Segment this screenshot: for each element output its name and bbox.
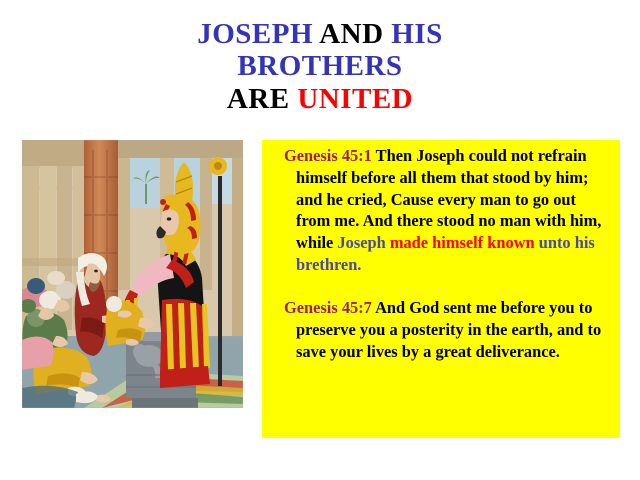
scripture-reference-2: Genesis 45:7 — [284, 298, 372, 317]
title-word-his: HIS — [391, 18, 442, 50]
title-line-3: ARE UNITED — [0, 83, 640, 115]
passage-1-run-2: Joseph — [337, 233, 389, 252]
scripture-passage-2: Genesis 45:7 And God sent me before you … — [296, 297, 612, 362]
scripture-passage-1: Genesis 45:1 Then Joseph could not refra… — [296, 145, 612, 276]
scripture-reference-1: Genesis 45:1 — [284, 146, 372, 165]
slide: JOSEPH AND HIS BROTHERS ARE UNITED — [0, 0, 640, 480]
title-word-brothers: BROTHERS — [237, 50, 402, 82]
title-line-2: BROTHERS — [0, 50, 640, 82]
title-word-are: ARE — [227, 83, 297, 115]
slide-title: JOSEPH AND HIS BROTHERS ARE UNITED — [0, 18, 640, 115]
title-word-joseph: JOSEPH — [197, 18, 319, 50]
passage-1-run-3: made himself known — [390, 233, 535, 252]
title-word-and: AND — [319, 18, 391, 50]
title-line-1: JOSEPH AND HIS — [0, 18, 640, 50]
scripture-textbox: Genesis 45:1 Then Joseph could not refra… — [262, 140, 620, 438]
illustration-artwork — [22, 140, 243, 408]
joseph-illustration — [22, 140, 243, 408]
title-word-united: UNITED — [297, 83, 413, 115]
